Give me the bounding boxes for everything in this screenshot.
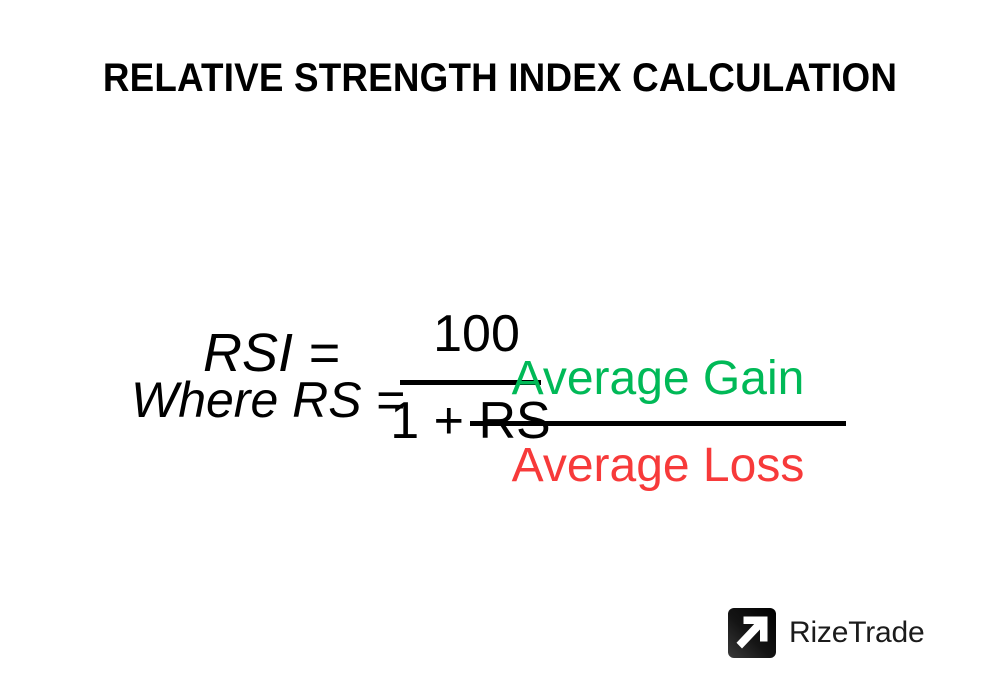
rs-denominator-average-loss: Average Loss [470,442,846,490]
rsi-formula: RSI = 100 1 + RS [0,150,1000,330]
rs-fraction-bar [470,421,846,426]
rs-formula: Where RS = Average Gain Average Loss [0,355,1000,535]
arrow-up-right-icon [728,608,776,658]
slide-canvas: RELATIVE STRENGTH INDEX CALCULATION RSI … [0,0,1000,676]
rs-numerator-average-gain: Average Gain [470,355,846,407]
brand-name: RizeTrade [789,618,924,648]
rs-formula-left-side: Where RS = [131,375,405,425]
page-title: RELATIVE STRENGTH INDEX CALCULATION [40,56,960,101]
rs-fraction: Average Gain Average Loss [470,355,846,490]
brand-logo: RizeTrade [728,608,924,658]
